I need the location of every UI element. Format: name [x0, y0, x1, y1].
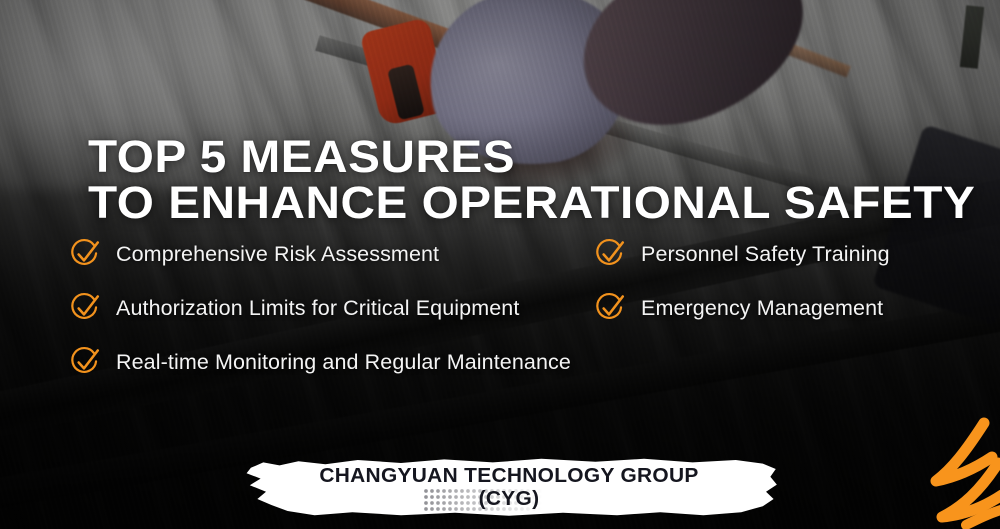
page-title: TOP 5 MEASURES TO ENHANCE OPERATIONAL SA…: [88, 134, 975, 226]
list-item: Emergency Management: [593, 291, 883, 325]
list-item: Personnel Safety Training: [593, 237, 890, 271]
company-name-line-2: (CYG): [479, 487, 540, 510]
list-item: Comprehensive Risk Assessment: [68, 237, 439, 271]
headline-line-2: TO ENHANCE OPERATIONAL SAFETY: [88, 180, 975, 226]
list-item-label: Authorization Limits for Critical Equipm…: [116, 296, 519, 321]
check-circle-icon: [68, 345, 102, 379]
list-item: Real-time Monitoring and Regular Mainten…: [68, 345, 571, 379]
company-banner: CHANGYUAN TECHNOLOGY GROUP (CYG): [239, 457, 779, 517]
list-item-label: Real-time Monitoring and Regular Mainten…: [116, 350, 571, 375]
list-item-label: Emergency Management: [641, 296, 883, 321]
poster-content: TOP 5 MEASURES TO ENHANCE OPERATIONAL SA…: [0, 0, 1000, 529]
headline-line-1: TOP 5 MEASURES: [88, 134, 975, 180]
check-circle-icon: [593, 237, 627, 271]
company-name: CHANGYUAN TECHNOLOGY GROUP (CYG): [234, 457, 785, 517]
list-item: Authorization Limits for Critical Equipm…: [68, 291, 519, 325]
check-circle-icon: [68, 237, 102, 271]
poster-canvas: TOP 5 MEASURES TO ENHANCE OPERATIONAL SA…: [0, 0, 1000, 529]
list-item-label: Personnel Safety Training: [641, 242, 890, 267]
company-name-line-1: CHANGYUAN TECHNOLOGY GROUP: [319, 464, 698, 487]
check-circle-icon: [68, 291, 102, 325]
list-item-label: Comprehensive Risk Assessment: [116, 242, 439, 267]
check-circle-icon: [593, 291, 627, 325]
orange-brush-scribble-icon: [914, 417, 1000, 529]
